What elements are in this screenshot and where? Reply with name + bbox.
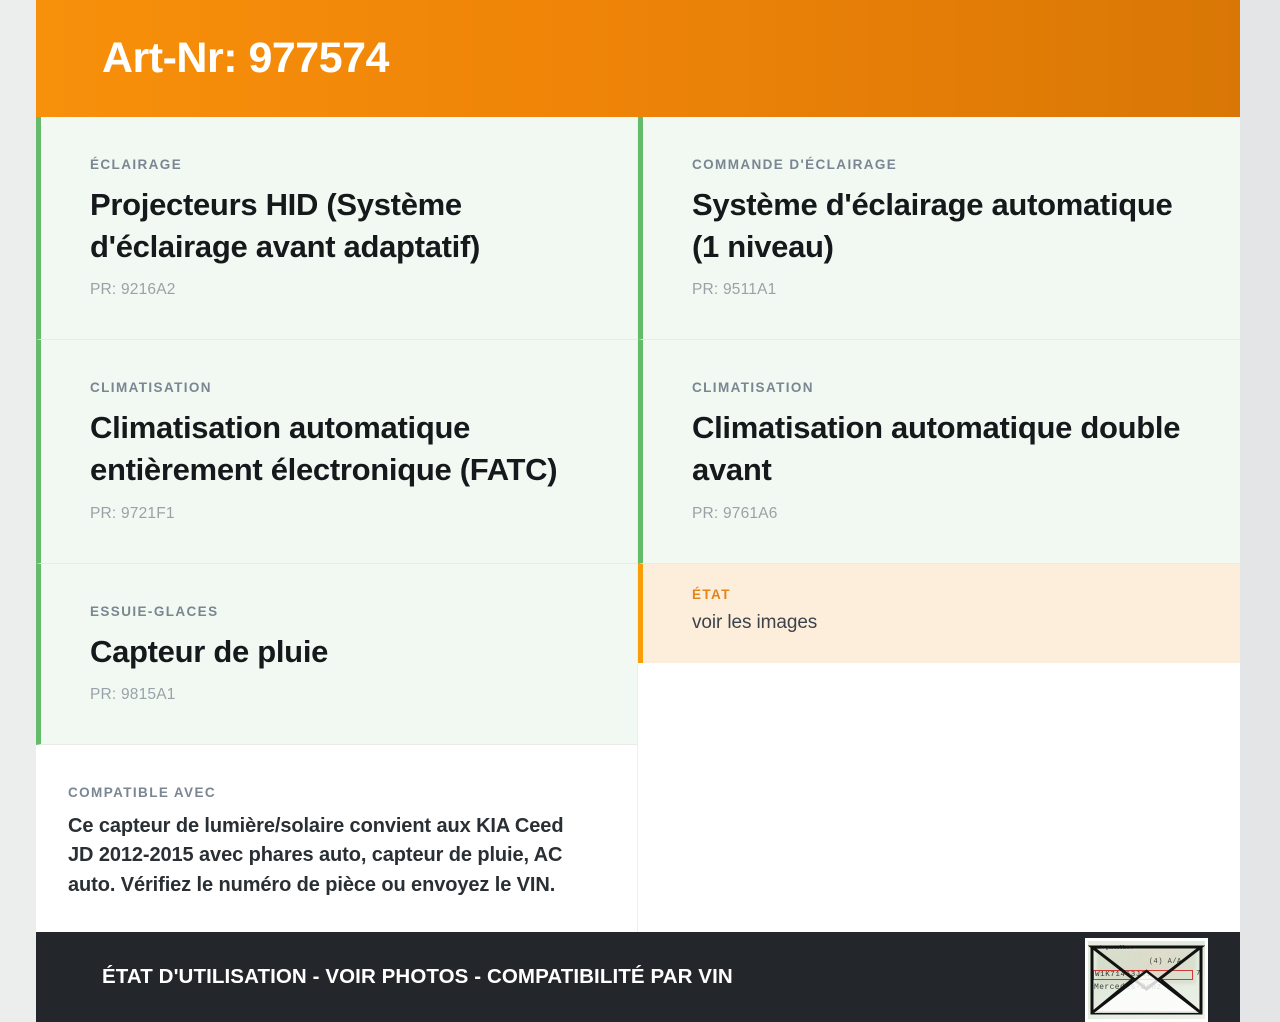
condition-text: voir les images — [692, 609, 1194, 637]
page-title: Art-Nr: 977574 — [102, 37, 389, 80]
envelope-icon — [1088, 941, 1205, 1019]
feature-pr-code: PR: 9216A2 — [90, 281, 591, 299]
feature-pr-code: PR: 9761A6 — [692, 505, 1194, 523]
feature-title: Capteur de pluie — [90, 631, 591, 673]
feature-pr-code: PR: 9511A1 — [692, 281, 1194, 299]
feature-category-label: CLIMATISATION — [90, 380, 591, 395]
feature-category-label: ÉCLAIRAGE — [90, 157, 591, 172]
product-detail-page: Art-Nr: 977574 ÉCLAIRAGE Projecteurs HID… — [36, 0, 1240, 1022]
feature-category-label: COMMANDE D'ÉCLAIRAGE — [692, 157, 1194, 172]
right-column: COMMANDE D'ÉCLAIRAGE Système d'éclairage… — [638, 117, 1240, 663]
feature-category-label: CLIMATISATION — [692, 380, 1194, 395]
feature-card-commande-eclairage[interactable]: COMMANDE D'ÉCLAIRAGE Système d'éclairage… — [638, 117, 1240, 340]
feature-category-label: ESSUIE-GLACES — [90, 604, 591, 619]
feature-card-essuie-glaces[interactable]: ESSUIE-GLACES Capteur de pluie PR: 9815A… — [36, 564, 637, 745]
envelope-vin-document-icon[interactable]: Fahrgestellnr. (4) A/A W1K71463J31 7 Mer… — [1085, 938, 1208, 1022]
compatibility-card: COMPATIBLE AVEC Ce capteur de lumière/so… — [36, 745, 637, 941]
condition-label: ÉTAT — [692, 587, 1194, 602]
compatibility-label: COMPATIBLE AVEC — [68, 785, 591, 800]
feature-card-climatisation-double[interactable]: CLIMATISATION Climatisation automatique … — [638, 340, 1240, 563]
footer-notice: ÉTAT D'UTILISATION - VOIR PHOTOS - COMPA… — [102, 965, 1210, 989]
vin-document-image: Fahrgestellnr. (4) A/A W1K71463J31 7 Mer… — [1088, 941, 1205, 1019]
feature-card-climatisation-fatc[interactable]: CLIMATISATION Climatisation automatique … — [36, 340, 637, 563]
feature-pr-code: PR: 9815A1 — [90, 686, 591, 704]
condition-card-etat[interactable]: ÉTAT voir les images — [638, 564, 1240, 663]
feature-columns: ÉCLAIRAGE Projecteurs HID (Système d'écl… — [36, 117, 1240, 932]
left-column: ÉCLAIRAGE Projecteurs HID (Système d'écl… — [36, 117, 638, 941]
feature-card-eclairage[interactable]: ÉCLAIRAGE Projecteurs HID (Système d'écl… — [36, 117, 637, 340]
feature-title: Climatisation automatique double avant — [692, 407, 1194, 491]
header-bar: Art-Nr: 977574 — [36, 0, 1240, 117]
feature-pr-code: PR: 9721F1 — [90, 505, 591, 523]
footer-bar: ÉTAT D'UTILISATION - VOIR PHOTOS - COMPA… — [36, 932, 1240, 1022]
feature-title: Climatisation automatique entièrement él… — [90, 407, 591, 491]
feature-title: Système d'éclairage automatique (1 nivea… — [692, 184, 1194, 268]
feature-title: Projecteurs HID (Système d'éclairage ava… — [90, 184, 591, 268]
compatibility-text: Ce capteur de lumière/solaire convient a… — [68, 812, 591, 900]
